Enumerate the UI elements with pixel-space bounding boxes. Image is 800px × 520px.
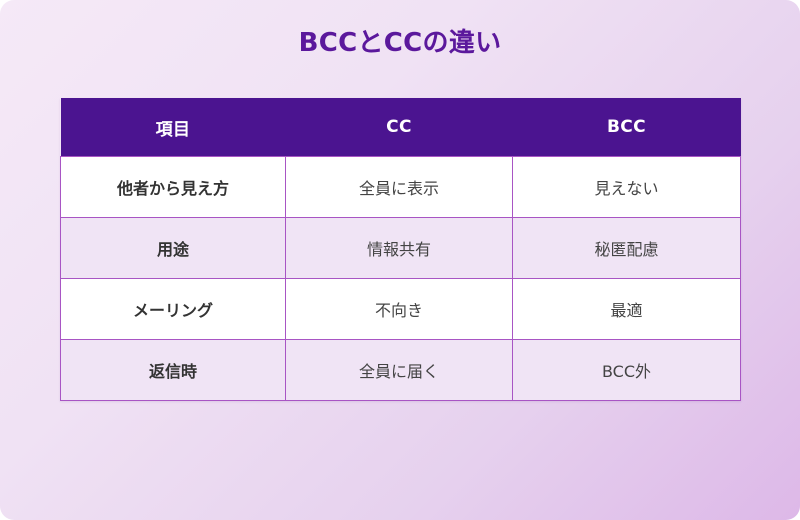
column-header-item: 項目 <box>61 98 286 157</box>
row-label: 返信時 <box>61 340 286 401</box>
table-header: 項目 CC BCC <box>61 98 741 157</box>
row-label: 用途 <box>61 218 286 279</box>
table-row: 返信時 全員に届く BCC外 <box>61 340 741 401</box>
table-row: 用途 情報共有 秘匿配慮 <box>61 218 741 279</box>
table-row: 他者から見え方 全員に表示 見えない <box>61 157 741 218</box>
row-cc-value: 全員に届く <box>286 340 513 401</box>
row-cc-value: 不向き <box>286 279 513 340</box>
row-bcc-value: BCC外 <box>513 340 741 401</box>
table-row: メーリング 不向き 最適 <box>61 279 741 340</box>
row-bcc-value: 秘匿配慮 <box>513 218 741 279</box>
row-cc-value: 情報共有 <box>286 218 513 279</box>
column-header-bcc: BCC <box>513 98 741 157</box>
page-title: BCCとCCの違い <box>0 26 800 60</box>
table-body: 他者から見え方 全員に表示 見えない 用途 情報共有 秘匿配慮 メーリング 不向… <box>61 157 741 401</box>
row-label: 他者から見え方 <box>61 157 286 218</box>
column-header-cc: CC <box>286 98 513 157</box>
slide-canvas: BCCとCCの違い 項目 CC BCC 他者から見え方 全員に表示 見えない <box>0 0 800 520</box>
row-label: メーリング <box>61 279 286 340</box>
table-header-row: 項目 CC BCC <box>61 98 741 157</box>
row-bcc-value: 見えない <box>513 157 741 218</box>
comparison-table: 項目 CC BCC 他者から見え方 全員に表示 見えない 用途 情報共有 秘匿配… <box>60 98 741 401</box>
comparison-table-container: 項目 CC BCC 他者から見え方 全員に表示 見えない 用途 情報共有 秘匿配… <box>60 98 740 401</box>
row-bcc-value: 最適 <box>513 279 741 340</box>
row-cc-value: 全員に表示 <box>286 157 513 218</box>
